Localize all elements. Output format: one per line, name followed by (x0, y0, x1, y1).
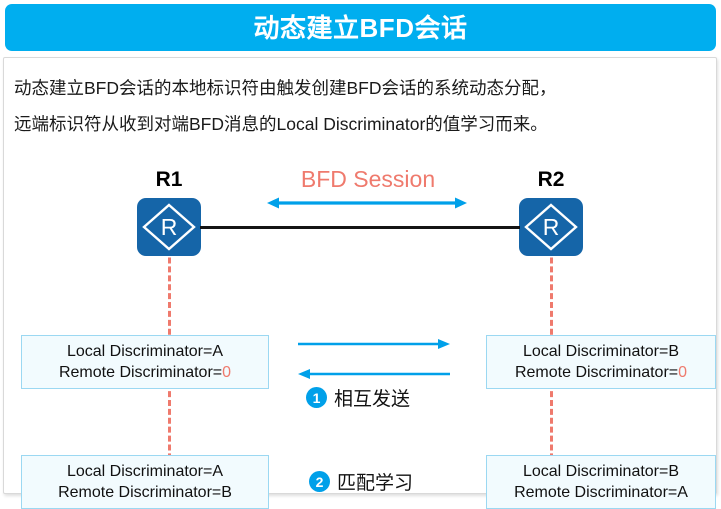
router-label-r2: R2 (516, 168, 586, 192)
header-banner: 动态建立BFD会话 (5, 4, 716, 51)
local-discriminator-line: Local Discriminator=B (523, 341, 679, 362)
local-discriminator-line: Local Discriminator=B (523, 461, 679, 482)
step-2-label: 匹配学习 (337, 468, 413, 495)
remote-discriminator-value: 0 (678, 364, 687, 381)
local-discriminator-value: B (668, 343, 679, 360)
discriminator-box-r2-learned: Local Discriminator=B Remote Discriminat… (486, 455, 716, 509)
local-discriminator-line: Local Discriminator=A (67, 341, 223, 362)
step-2: 2 匹配学习 (309, 468, 413, 495)
description-line-1: 动态建立BFD会话的本地标识符由触发创建BFD会话的系统动态分配， (14, 70, 718, 106)
remote-discriminator-line: Remote Discriminator=0 (59, 362, 231, 383)
description-text: 动态建立BFD会话的本地标识符由触发创建BFD会话的系统动态分配， 远端标识符从… (14, 70, 718, 142)
svg-text:R: R (543, 214, 560, 240)
remote-discriminator-prefix: Remote Discriminator= (58, 484, 221, 501)
local-discriminator-prefix: Local Discriminator= (523, 463, 668, 480)
discriminator-box-r1-learned: Local Discriminator=A Remote Discriminat… (21, 455, 269, 509)
remote-discriminator-line: Remote Discriminator=0 (515, 362, 687, 383)
local-discriminator-line: Local Discriminator=A (67, 461, 223, 482)
remote-discriminator-value: B (221, 484, 232, 501)
remote-discriminator-line: Remote Discriminator=A (514, 482, 688, 503)
router-icon-r1: R (137, 198, 201, 256)
local-discriminator-prefix: Local Discriminator= (67, 463, 212, 480)
step-1-label: 相互发送 (334, 384, 410, 411)
step-2-badge: 2 (309, 471, 330, 492)
local-discriminator-value: A (212, 463, 223, 480)
local-discriminator-value: B (668, 463, 679, 480)
local-discriminator-prefix: Local Discriminator= (523, 343, 668, 360)
svg-text:R: R (161, 214, 178, 240)
step-1-badge: 1 (306, 387, 327, 408)
router-icon-r2: R (519, 198, 583, 256)
router-link-line (200, 226, 520, 229)
router-label-r1: R1 (134, 168, 204, 192)
remote-discriminator-value: A (677, 484, 688, 501)
bfd-session-label: BFD Session (269, 166, 467, 193)
page-title: 动态建立BFD会话 (254, 15, 468, 41)
remote-discriminator-value: 0 (222, 364, 231, 381)
remote-discriminator-prefix: Remote Discriminator= (515, 364, 678, 381)
local-discriminator-value: A (212, 343, 223, 360)
discriminator-box-r1-initial: Local Discriminator=A Remote Discriminat… (21, 335, 269, 389)
local-discriminator-prefix: Local Discriminator= (67, 343, 212, 360)
remote-discriminator-prefix: Remote Discriminator= (59, 364, 222, 381)
exchange-arrows (298, 338, 450, 384)
bfd-session-arrow (267, 196, 467, 210)
step-1: 1 相互发送 (306, 384, 410, 411)
description-line-2: 远端标识符从收到对端BFD消息的Local Discriminator的值学习而… (14, 106, 718, 142)
remote-discriminator-prefix: Remote Discriminator= (514, 484, 677, 501)
remote-discriminator-line: Remote Discriminator=B (58, 482, 232, 503)
bfd-session-diagram: R1 R R2 R BFD Session (4, 168, 718, 495)
content-panel: 动态建立BFD会话的本地标识符由触发创建BFD会话的系统动态分配， 远端标识符从… (3, 57, 717, 494)
discriminator-box-r2-initial: Local Discriminator=B Remote Discriminat… (486, 335, 716, 389)
